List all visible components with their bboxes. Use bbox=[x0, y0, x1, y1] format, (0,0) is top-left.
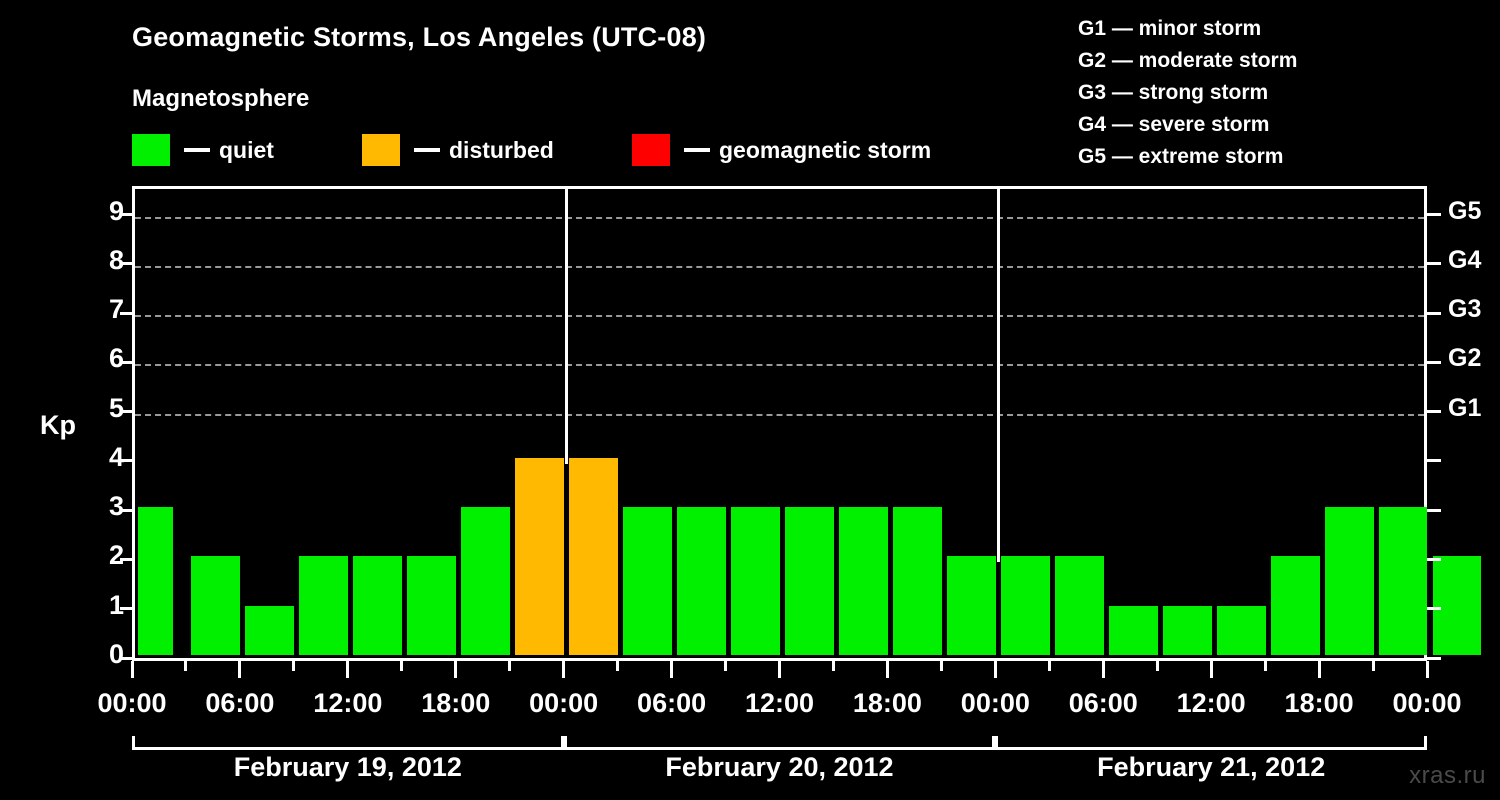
gridline-kp-6 bbox=[135, 364, 1424, 366]
chart-canvas: Geomagnetic Storms, Los Angeles (UTC-08)… bbox=[0, 0, 1500, 800]
x-tick-8 bbox=[994, 661, 997, 678]
g-axis-tick-4 bbox=[1427, 459, 1441, 462]
g-axis-label-G5: G5 bbox=[1448, 197, 1481, 226]
bar-quiet-kp2 bbox=[1433, 556, 1482, 655]
gridline-kp-8 bbox=[135, 266, 1424, 268]
date-label-2: February 20, 2012 bbox=[564, 752, 996, 783]
g-scale-line-3: G3 — strong storm bbox=[1078, 77, 1297, 109]
g-scale-line-2: G2 — moderate storm bbox=[1078, 45, 1297, 77]
x-tick-minor-17 bbox=[1048, 661, 1051, 671]
x-tick-minor-5 bbox=[400, 661, 403, 671]
g-scale-legend: G1 — minor stormG2 — moderate stormG3 — … bbox=[1078, 13, 1297, 173]
x-tick-5 bbox=[670, 661, 673, 678]
bar-quiet-kp2 bbox=[1001, 556, 1050, 655]
legend-dash-icon bbox=[414, 148, 440, 152]
bar-quiet-kp1 bbox=[1217, 606, 1266, 655]
bar-quiet-kp1 bbox=[245, 606, 294, 655]
legend-dash-icon bbox=[684, 148, 710, 152]
bar-quiet-kp2 bbox=[191, 556, 240, 655]
x-tick-10 bbox=[1210, 661, 1213, 678]
x-tick-label-12: 00:00 bbox=[1357, 688, 1497, 719]
x-tick-minor-21 bbox=[1264, 661, 1267, 671]
x-tick-3 bbox=[454, 661, 457, 678]
x-tick-4 bbox=[562, 661, 565, 678]
date-bracket-2 bbox=[564, 736, 996, 750]
x-tick-minor-1 bbox=[184, 661, 187, 671]
bar-quiet-kp2 bbox=[1055, 556, 1104, 655]
x-tick-2 bbox=[346, 661, 349, 678]
bar-quiet-kp1 bbox=[1109, 606, 1158, 655]
y-tick-label-2: 2 bbox=[64, 540, 124, 571]
x-tick-11 bbox=[1318, 661, 1321, 678]
bar-quiet-kp3 bbox=[785, 507, 834, 655]
x-tick-minor-3 bbox=[292, 661, 295, 671]
g-axis-label-G4: G4 bbox=[1448, 246, 1481, 275]
storm-swatch bbox=[632, 134, 670, 166]
x-tick-minor-15 bbox=[940, 661, 943, 671]
y-tick-label-3: 3 bbox=[64, 491, 124, 522]
gridline-kp-9 bbox=[135, 217, 1424, 219]
g-axis-label-G1: G1 bbox=[1448, 394, 1481, 423]
x-tick-minor-13 bbox=[832, 661, 835, 671]
date-label-1: February 19, 2012 bbox=[132, 752, 564, 783]
g-axis-tick-3 bbox=[1427, 509, 1441, 512]
g-axis-tick-6 bbox=[1427, 361, 1441, 364]
x-tick-minor-19 bbox=[1156, 661, 1159, 671]
g-axis-tick-5 bbox=[1427, 410, 1441, 413]
y-tick-label-7: 7 bbox=[64, 294, 124, 325]
quiet-swatch bbox=[132, 134, 170, 166]
legend-item-1: disturbed bbox=[362, 133, 554, 167]
y-tick-label-4: 4 bbox=[64, 442, 124, 473]
date-label-3: February 21, 2012 bbox=[995, 752, 1427, 783]
legend-item-0: quiet bbox=[132, 133, 274, 167]
bar-quiet-kp2 bbox=[299, 556, 348, 655]
bar-quiet-kp3 bbox=[461, 507, 510, 655]
legend-dash-icon bbox=[184, 148, 210, 152]
y-tick-label-9: 9 bbox=[64, 196, 124, 227]
y-tick-label-5: 5 bbox=[64, 393, 124, 424]
g-axis-tick-0 bbox=[1427, 657, 1441, 660]
bar-quiet-kp3 bbox=[1379, 507, 1427, 655]
bar-disturbed-kp4 bbox=[569, 458, 618, 655]
chart-title: Geomagnetic Storms, Los Angeles (UTC-08) bbox=[132, 22, 706, 53]
g-axis-tick-9 bbox=[1427, 213, 1441, 216]
g-scale-line-4: G4 — severe storm bbox=[1078, 109, 1297, 141]
gridline-kp-7 bbox=[135, 315, 1424, 317]
bar-quiet-kp3 bbox=[138, 507, 173, 655]
bar-quiet-kp3 bbox=[839, 507, 888, 655]
legend-label-1: disturbed bbox=[449, 139, 554, 162]
bar-quiet-kp3 bbox=[1325, 507, 1374, 655]
plot-area bbox=[132, 186, 1427, 661]
g-axis-label-G3: G3 bbox=[1448, 295, 1481, 324]
g-axis-tick-2 bbox=[1427, 558, 1441, 561]
disturbed-swatch bbox=[362, 134, 400, 166]
x-tick-9 bbox=[1102, 661, 1105, 678]
day-separator-2 bbox=[997, 189, 1000, 562]
bar-quiet-kp2 bbox=[353, 556, 402, 655]
date-bracket-3 bbox=[995, 736, 1427, 750]
gridline-kp-5 bbox=[135, 414, 1424, 416]
bar-quiet-kp1 bbox=[1163, 606, 1212, 655]
x-tick-0 bbox=[131, 661, 134, 678]
bar-quiet-kp3 bbox=[677, 507, 726, 655]
g-axis-tick-7 bbox=[1427, 312, 1441, 315]
g-axis-label-G2: G2 bbox=[1448, 344, 1481, 373]
g-axis-tick-1 bbox=[1427, 607, 1441, 610]
legend-label-0: quiet bbox=[219, 139, 274, 162]
x-tick-minor-9 bbox=[616, 661, 619, 671]
x-tick-1 bbox=[238, 661, 241, 678]
chart-subtitle: Magnetosphere bbox=[132, 85, 309, 113]
x-tick-7 bbox=[886, 661, 889, 678]
bar-quiet-kp2 bbox=[947, 556, 996, 655]
bar-quiet-kp3 bbox=[893, 507, 942, 655]
x-tick-minor-11 bbox=[724, 661, 727, 671]
y-tick-label-6: 6 bbox=[64, 343, 124, 374]
g-scale-line-5: G5 — extreme storm bbox=[1078, 141, 1297, 173]
g-scale-line-1: G1 — minor storm bbox=[1078, 13, 1297, 45]
bar-quiet-kp2 bbox=[407, 556, 456, 655]
legend-item-2: geomagnetic storm bbox=[632, 133, 931, 167]
legend-label-2: geomagnetic storm bbox=[719, 139, 931, 162]
bar-disturbed-kp4 bbox=[515, 458, 564, 655]
date-bracket-1 bbox=[132, 736, 564, 750]
y-tick-label-1: 1 bbox=[64, 590, 124, 621]
day-separator-1 bbox=[565, 189, 568, 464]
bar-quiet-kp2 bbox=[1271, 556, 1320, 655]
x-tick-12 bbox=[1426, 661, 1429, 678]
y-tick-label-8: 8 bbox=[64, 245, 124, 276]
bar-quiet-kp3 bbox=[623, 507, 672, 655]
g-axis-tick-8 bbox=[1427, 262, 1441, 265]
watermark: xras.ru bbox=[1409, 762, 1486, 790]
x-tick-minor-7 bbox=[508, 661, 511, 671]
y-tick-label-0: 0 bbox=[64, 639, 124, 670]
x-tick-minor-23 bbox=[1372, 661, 1375, 671]
x-tick-6 bbox=[778, 661, 781, 678]
bar-quiet-kp3 bbox=[731, 507, 780, 655]
